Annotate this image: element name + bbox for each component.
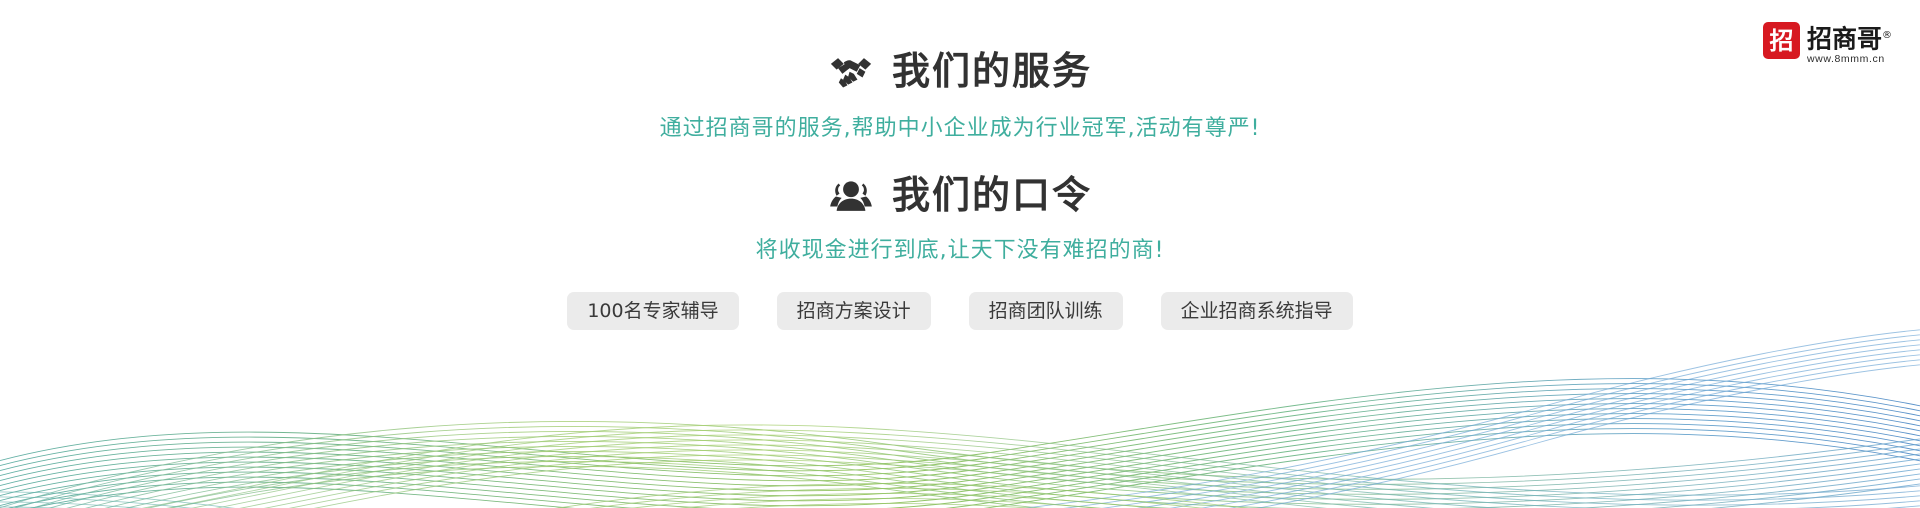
promo-banner: 招 招商哥® www.8mmm.cn 我们的服务 — [0, 0, 1920, 508]
tag-list: 100名专家辅导 招商方案设计 招商团队训练 企业招商系统指导 — [0, 292, 1920, 330]
section-subtitle-slogan: 将收现金进行到底,让天下没有难招的商! — [0, 236, 1920, 266]
section-heading-service: 我们的服务 — [0, 46, 1920, 96]
section-heading-slogan: 我们的口令 — [0, 170, 1920, 220]
handshake-icon — [828, 48, 874, 94]
tag-pill-plan-design[interactable]: 招商方案设计 — [777, 292, 931, 330]
section-subtitle-service: 通过招商哥的服务,帮助中小企业成为行业冠军,活动有尊严! — [0, 114, 1920, 144]
section-title: 我们的口令 — [892, 170, 1092, 220]
tag-pill-expert-coaching[interactable]: 100名专家辅导 — [567, 292, 738, 330]
banner-content: 我们的服务 通过招商哥的服务,帮助中小企业成为行业冠军,活动有尊严! 我们的口令… — [0, 0, 1920, 330]
tag-pill-team-training[interactable]: 招商团队训练 — [969, 292, 1123, 330]
tag-pill-system-guidance[interactable]: 企业招商系统指导 — [1161, 292, 1353, 330]
users-group-icon — [828, 172, 874, 218]
section-title: 我们的服务 — [892, 46, 1092, 96]
